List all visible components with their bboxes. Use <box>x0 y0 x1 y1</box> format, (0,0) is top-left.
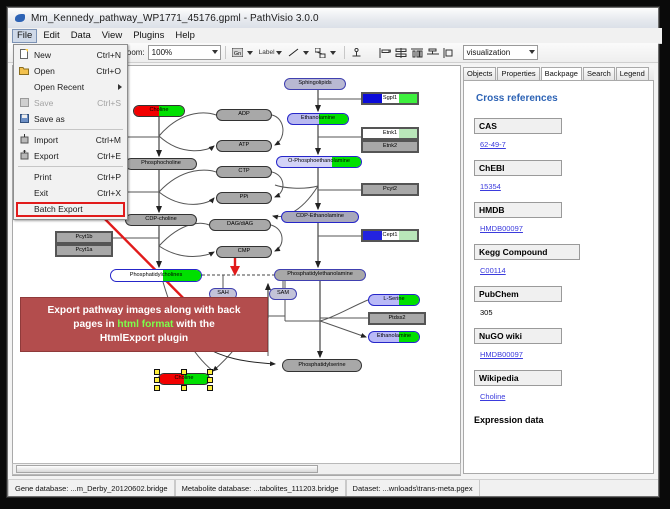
menu-separator-2 <box>18 166 123 167</box>
menu-data[interactable]: Data <box>66 29 96 43</box>
backpage-content: Cross references CAS 62-49-7 ChEBI 15354… <box>463 80 654 474</box>
status-text: Dataset: ...wnloads\trans-meta.pgex <box>347 484 473 493</box>
node-label: Ptdss2 <box>388 316 405 322</box>
gene-sgpl1[interactable]: Sgpl1 <box>361 92 419 105</box>
xref-name: Kegg Compound <box>474 244 580 260</box>
node-cdp-choline[interactable]: CDP-choline <box>125 214 197 226</box>
node-cdp-ethanolamine[interactable]: CDP-Ethanolamine <box>281 211 359 223</box>
node-label: Choline <box>150 108 169 114</box>
annotation-line-1: Export pathway images along with back <box>47 304 240 318</box>
node-label: Etnk1 <box>383 131 397 137</box>
line-tool-icon[interactable] <box>287 46 301 60</box>
node-phosphatidylserine[interactable]: Phosphatidylserine <box>282 359 362 372</box>
interaction-tool-icon[interactable] <box>314 46 328 60</box>
annotation-highlight: html format <box>117 319 173 330</box>
menu-item-save-as[interactable]: Save as <box>14 111 127 127</box>
node-label: Phosphatidylserine <box>298 363 345 369</box>
annotation-line-2b: with the <box>173 319 214 330</box>
gene-ptdss2[interactable]: Ptdss2 <box>368 312 426 325</box>
xref-nugo-wiki: NuGO wiki HMDB00097 <box>474 328 643 367</box>
save-as-icon <box>14 114 34 125</box>
distribute-tool-icon[interactable] <box>410 46 424 60</box>
node-phosphocholine[interactable]: Phosphocholine <box>125 158 197 170</box>
status-bar: Gene database: ...m_Derby_20120602.bridg… <box>8 479 658 496</box>
xref-name: Wikipedia <box>474 370 562 386</box>
node-label: Pcyt1a <box>75 248 92 254</box>
menu-item-accel: Ctrl+P <box>97 172 127 182</box>
node-label: O-Phosphoethanolamine <box>288 159 350 165</box>
node-l-serine[interactable]: L-Serine <box>368 294 420 306</box>
xref-value-link[interactable]: C00114 <box>480 266 506 275</box>
title-bar: Mm_Kennedy_pathway_WP1771_45176.gpml - P… <box>8 8 658 29</box>
status-text: Gene database: ...m_Derby_20120602.bridg… <box>9 484 168 493</box>
gene-etnk1[interactable]: Etnk1 <box>361 127 419 140</box>
menu-item-export[interactable]: Export Ctrl+E <box>14 148 127 164</box>
menu-item-label: Save as <box>34 114 121 124</box>
scrollbar-thumb[interactable] <box>16 465 318 473</box>
node-label: Etnk2 <box>383 144 397 150</box>
gene-pcyt1a[interactable]: Pcyt1a <box>55 244 113 257</box>
tab-legend[interactable]: Legend <box>616 67 649 80</box>
cross-references-title: Cross references <box>476 93 643 104</box>
canvas-hscrollbar[interactable] <box>12 463 461 475</box>
node-label: ADP <box>238 112 250 118</box>
menu-item-save[interactable]: Save Ctrl+S <box>14 95 127 111</box>
stack-tool-icon[interactable] <box>426 46 440 60</box>
menu-item-label: New <box>34 50 97 60</box>
xref-name: NuGO wiki <box>474 328 562 344</box>
node-sam[interactable]: SAM <box>269 288 297 300</box>
node-label: SAH <box>217 291 229 297</box>
xref-hmdb: HMDB HMDB00097 <box>474 202 643 241</box>
chevron-down-icon <box>212 50 218 54</box>
node-adp[interactable]: ADP <box>216 109 272 121</box>
gene-pcyt2[interactable]: Pcyt2 <box>361 183 419 196</box>
node-label: CMP <box>238 249 250 255</box>
xref-kegg-compound: Kegg Compound C00114 <box>474 244 643 283</box>
node-label: DAG/diAG <box>227 222 253 228</box>
label-tool-text[interactable]: Label <box>259 49 275 56</box>
menu-item-open-recent[interactable]: Open Recent <box>14 79 127 95</box>
window-title: Mm_Kennedy_pathway_WP1771_45176.gpml - P… <box>31 13 319 24</box>
menu-item-accel: Ctrl+M <box>96 135 127 145</box>
menu-item-batch-export[interactable]: Batch Export <box>14 201 127 217</box>
annotation-line-3: HtmlExport plugin <box>47 332 240 346</box>
node-label: Ethanolamine <box>301 116 335 122</box>
node-dag[interactable]: DAG/diAG <box>209 219 271 231</box>
menu-view[interactable]: View <box>97 29 127 43</box>
node-label: Phosphocholine <box>141 161 181 167</box>
xref-name: ChEBI <box>474 160 562 176</box>
node-label: CDP-Ethanolamine <box>296 214 344 220</box>
order-tool-icon[interactable] <box>442 46 456 60</box>
status-metabolite-database: Metabolite database: ...tabolites_111203… <box>175 480 346 496</box>
screenshot-root: Mm_Kennedy_pathway_WP1771_45176.gpml - P… <box>0 0 670 509</box>
node-label: SAM <box>277 291 289 297</box>
node-label: CTP <box>238 169 249 175</box>
menu-help[interactable]: Help <box>170 29 200 43</box>
menu-item-label: Save <box>34 98 97 108</box>
menu-item-accel: Ctrl+E <box>97 151 127 161</box>
new-file-icon <box>14 49 34 61</box>
align-center-tool-icon[interactable] <box>394 46 408 60</box>
node-label: Phosphatidylethanolamine <box>287 272 353 278</box>
annotation-banner: Export pathway images along with back pa… <box>20 297 268 352</box>
gene-tool-dropdown-icon[interactable] <box>247 51 253 55</box>
node-ctp[interactable]: CTP <box>216 166 272 178</box>
node-phosphatidylethanolamine[interactable]: Phosphatidylethanolamine <box>274 269 366 281</box>
gene-cept1[interactable]: Cept1 <box>361 229 419 242</box>
status-text: Metabolite database: ...tabolites_111203… <box>176 484 339 493</box>
visualization-combo[interactable]: visualization <box>463 45 538 60</box>
menu-plugins[interactable]: Plugins <box>128 29 169 43</box>
node-label: Phosphatidylcholines <box>130 273 183 279</box>
open-folder-icon <box>14 66 34 77</box>
node-label: Sgpl1 <box>383 96 397 102</box>
xref-name: PubChem <box>474 286 562 302</box>
xref-cas: CAS 62-49-7 <box>474 118 643 157</box>
node-ppi[interactable]: PPi <box>216 192 272 204</box>
menu-item-open[interactable]: Open Ctrl+O <box>14 63 127 79</box>
node-label: L-Serine <box>383 297 404 303</box>
tab-backpage[interactable]: Backpage <box>541 67 582 81</box>
menu-item-exit[interactable]: Exit Ctrl+X <box>14 185 127 201</box>
menu-item-print[interactable]: Print Ctrl+P <box>14 169 127 185</box>
xref-name: HMDB <box>474 202 562 218</box>
zoom-combo[interactable]: 100% <box>148 45 221 60</box>
menu-item-label: Print <box>34 172 97 182</box>
node-label: Cept1 <box>383 233 398 239</box>
node-label: CDP-choline <box>145 217 176 223</box>
menu-item-label: Export <box>34 151 97 161</box>
xref-value-link[interactable]: HMDB00097 <box>480 350 523 359</box>
label-tool-dropdown-icon[interactable] <box>276 51 282 55</box>
menu-item-accel: Ctrl+N <box>97 50 127 60</box>
zoom-value: 100% <box>152 48 172 57</box>
align-left-tool-icon[interactable] <box>378 46 392 60</box>
svg-text:Gn: Gn <box>234 51 241 57</box>
expression-data-title: Expression data <box>474 415 643 425</box>
menu-item-label: Open Recent <box>34 82 127 92</box>
menu-item-accel: Ctrl+O <box>96 66 127 76</box>
node-phosphatidylcholines[interactable]: Phosphatidylcholines <box>110 269 202 282</box>
save-icon <box>14 98 34 109</box>
tab-properties[interactable]: Properties <box>497 67 539 80</box>
xref-wikipedia: Wikipedia Choline <box>474 370 643 409</box>
xref-value-link[interactable]: 62-49-7 <box>480 140 506 149</box>
side-panel-tabs: Objects Properties Backpage Search Legen… <box>463 65 654 80</box>
node-label: ATP <box>239 143 249 149</box>
chevron-down-icon-2 <box>529 50 535 54</box>
annotation-line-2: pages in html format with the <box>47 318 240 332</box>
node-label: Choline <box>175 376 194 382</box>
export-icon <box>14 150 34 162</box>
menu-item-import[interactable]: Import Ctrl+M <box>14 132 127 148</box>
xref-chebi: ChEBI 15354 <box>474 160 643 199</box>
menu-bar: File Edit Data View Plugins Help <box>8 28 662 44</box>
node-ethanolamine-2[interactable]: Ethanolamine <box>368 331 420 343</box>
menu-item-accel: Ctrl+S <box>97 98 127 108</box>
import-icon <box>14 134 34 146</box>
xref-value-link[interactable]: 15354 <box>480 182 501 191</box>
menu-file[interactable]: File <box>12 29 37 43</box>
menu-item-new[interactable]: New Ctrl+N <box>14 47 127 63</box>
toolbar-separator <box>225 46 226 59</box>
node-ethanolamine[interactable]: Ethanolamine <box>287 113 349 125</box>
menu-item-label: Exit <box>34 188 97 198</box>
node-sphingolipids[interactable]: Sphingolipids <box>284 78 346 90</box>
tab-objects[interactable]: Objects <box>463 67 496 80</box>
anchor-tool-icon[interactable] <box>350 46 364 60</box>
application-window: Mm_Kennedy_pathway_WP1771_45176.gpml - P… <box>7 7 659 497</box>
node-label: Sphingolipids <box>298 81 331 87</box>
gene-etnk2[interactable]: Etnk2 <box>361 140 419 153</box>
pathvisio-icon <box>14 12 27 25</box>
gene-pcyt1b[interactable]: Pcyt1b <box>55 231 113 244</box>
status-dataset: Dataset: ...wnloads\trans-meta.pgex <box>346 480 480 496</box>
side-panel: Objects Properties Backpage Search Legen… <box>463 65 654 474</box>
tab-search[interactable]: Search <box>583 67 615 80</box>
interaction-tool-dropdown-icon[interactable] <box>330 51 336 55</box>
batch-export-highlight <box>16 202 125 217</box>
menu-item-label: Import <box>34 135 96 145</box>
toolbar-separator-2 <box>344 46 345 59</box>
annotation-line-2a: pages in <box>73 319 117 330</box>
node-label: PPi <box>240 195 249 201</box>
gene-product-tool-icon[interactable]: Gn <box>231 46 245 60</box>
node-label: Pcyt2 <box>383 187 397 193</box>
visualization-value: visualization <box>467 48 511 57</box>
node-cmp[interactable]: CMP <box>216 246 272 258</box>
node-o-phosphoethanolamine[interactable]: O-Phosphoethanolamine <box>276 156 362 168</box>
xref-value: 305 <box>480 308 493 317</box>
menu-item-label: Open <box>34 66 96 76</box>
menu-separator-1 <box>18 129 123 130</box>
xref-value-link[interactable]: Choline <box>480 392 505 401</box>
xref-name: CAS <box>474 118 562 134</box>
file-menu-dropdown: New Ctrl+N Open Ctrl+O Open Recent Save … <box>13 44 128 220</box>
node-label: Pcyt1b <box>75 235 92 241</box>
node-label: Ethanolamine <box>377 334 411 340</box>
chevron-right-icon <box>118 84 122 90</box>
menu-edit[interactable]: Edit <box>38 29 64 43</box>
xref-pubchem: PubChem 305 <box>474 286 643 325</box>
xref-value-link[interactable]: HMDB00097 <box>480 224 523 233</box>
menu-item-accel: Ctrl+X <box>97 188 127 198</box>
node-atp[interactable]: ATP <box>216 140 272 152</box>
node-choline-top[interactable]: Choline <box>133 105 185 117</box>
line-tool-dropdown-icon[interactable] <box>303 51 309 55</box>
status-gene-database: Gene database: ...m_Derby_20120602.bridg… <box>8 480 175 496</box>
node-choline-selected[interactable]: Choline <box>158 373 210 385</box>
